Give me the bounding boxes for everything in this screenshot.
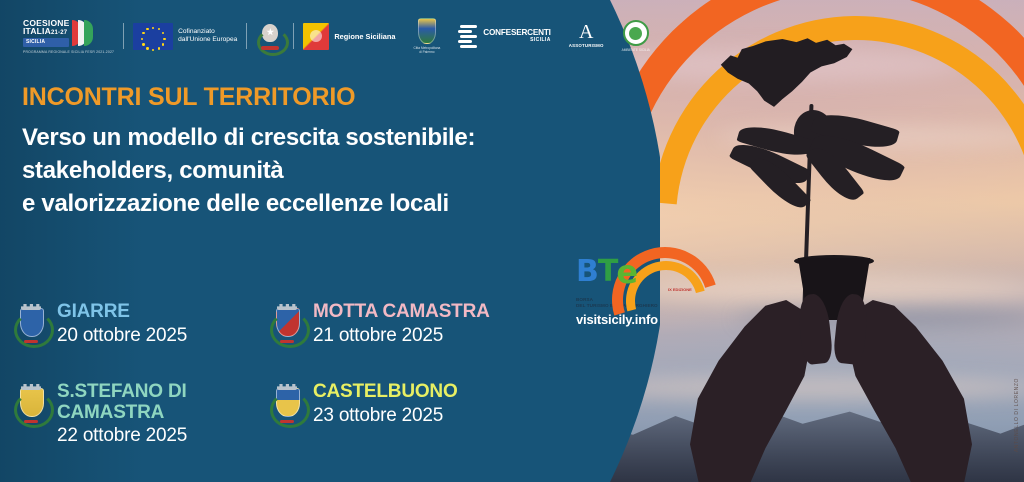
crest-icon-giarre [14,303,48,343]
campaign-banner: ANTONELLO DI LORENZO COESIONE ITALIA21-2… [0,0,1024,482]
subtitle-line-3: e valorizzazione delle eccellenze locali [22,187,562,220]
event-city: MOTTA CAMASTRA [313,302,490,323]
event-city: GIARRE [57,302,187,323]
subtitle-line-1: Verso un modello di crescita sostenibile… [22,121,562,154]
regione-siciliana-label: Regione Siciliana [334,32,395,41]
logo-confesercenti: CONFESERCENTI SICILIA [449,24,559,48]
eu-text-line1: Cofinanziato [178,28,237,36]
coesione-years: 21-27 [51,30,67,36]
confesercenti-mark-icon [458,24,480,48]
events-list: GIARRE 20 ottobre 2025 MOTTA CAMASTRA 21… [14,300,574,460]
logo-coesione-italia: COESIONE ITALIA21-27 SICILIA PROGRAMMA R… [14,19,123,54]
logo-citta-metropolitana-palermo: Citta Metropolitana di Palermo [405,18,450,55]
palermo-shield-icon [418,18,436,44]
green-label: AMBIENTE SICILIA [622,48,650,52]
bte-letter-t: T [598,259,618,285]
subtitle-block: Verso un modello di crescita sostenibile… [22,121,562,220]
italian-republic-emblem-icon [256,21,284,51]
event-item-motta-camastra[interactable]: MOTTA CAMASTRA 21 ottobre 2025 [270,300,570,380]
logo-assoturismo: A ASSOTURISMO [560,24,613,48]
subtitle-line-2: stakeholders, comunità [22,154,562,187]
bte-letter-e: e [616,259,638,286]
event-item-santo-stefano-di-camastra[interactable]: S.STEFANO DI CAMASTRA 22 ottobre 2025 [14,380,270,460]
events-row-2: S.STEFANO DI CAMASTRA 22 ottobre 2025 CA… [14,380,574,460]
assoturismo-label: ASSOTURISMO [569,43,604,48]
italy-flag-icon [72,20,98,46]
event-item-giarre[interactable]: GIARRE 20 ottobre 2025 [14,300,270,380]
green-circle-icon [623,20,649,46]
coesione-region-chip: SICILIA [23,38,69,47]
event-city: S.STEFANO DI CAMASTRA [57,382,270,423]
bte-logo-block[interactable]: B T e IX EDIZIONE BORSA DEL TURISMO EXTR… [576,247,702,327]
palermo-line2: di Palermo [414,50,441,54]
coesione-line2: ITALIA [23,26,51,36]
bte-logo-mark: B T e IX EDIZIONE [576,247,696,299]
events-row-1: GIARRE 20 ottobre 2025 MOTTA CAMASTRA 21… [14,300,574,380]
sicilian-flag-icon [303,23,329,50]
crest-icon-motta-camastra [270,303,304,343]
coesione-footnote: PROGRAMMA REGIONALE SICILIA FESR 2021-20… [23,50,114,54]
photo-credit: ANTONELLO DI LORENZO [1014,378,1020,452]
kicker-title: INCONTRI SUL TERRITORIO [22,84,562,112]
logo-repubblica-italiana [247,21,293,51]
bte-wordmark: B T e [576,259,638,286]
event-item-castelbuono[interactable]: CASTELBUONO 23 ottobre 2025 [270,380,570,460]
event-date: 22 ottobre 2025 [57,426,270,447]
eu-text-line2: dall'Unione Europea [178,36,237,44]
sicily-island-silhouette-icon [718,32,858,110]
headline-block: INCONTRI SUL TERRITORIO Verso un modello… [22,84,562,220]
confesercenti-subtitle: SICILIA [530,38,551,43]
logo-regione-siciliana: Regione Siciliana [294,23,404,50]
assoturismo-glyph: A [579,24,593,41]
event-city: CASTELBUONO [313,382,458,403]
bte-letter-b: B [576,259,599,285]
logo-green-certification: AMBIENTE SICILIA [613,20,659,52]
crest-icon-santo-stefano [14,383,48,423]
eu-flag-icon [133,23,173,50]
crest-icon-castelbuono [270,383,304,423]
event-date: 23 ottobre 2025 [313,406,458,427]
event-date: 20 ottobre 2025 [57,326,187,347]
logo-european-union: Cofinanziato dall'Unione Europea [124,23,246,50]
institutional-logo-strip: COESIONE ITALIA21-27 SICILIA PROGRAMMA R… [14,12,659,60]
bte-edition-label: IX EDIZIONE [668,287,692,292]
event-date: 21 ottobre 2025 [313,326,490,347]
